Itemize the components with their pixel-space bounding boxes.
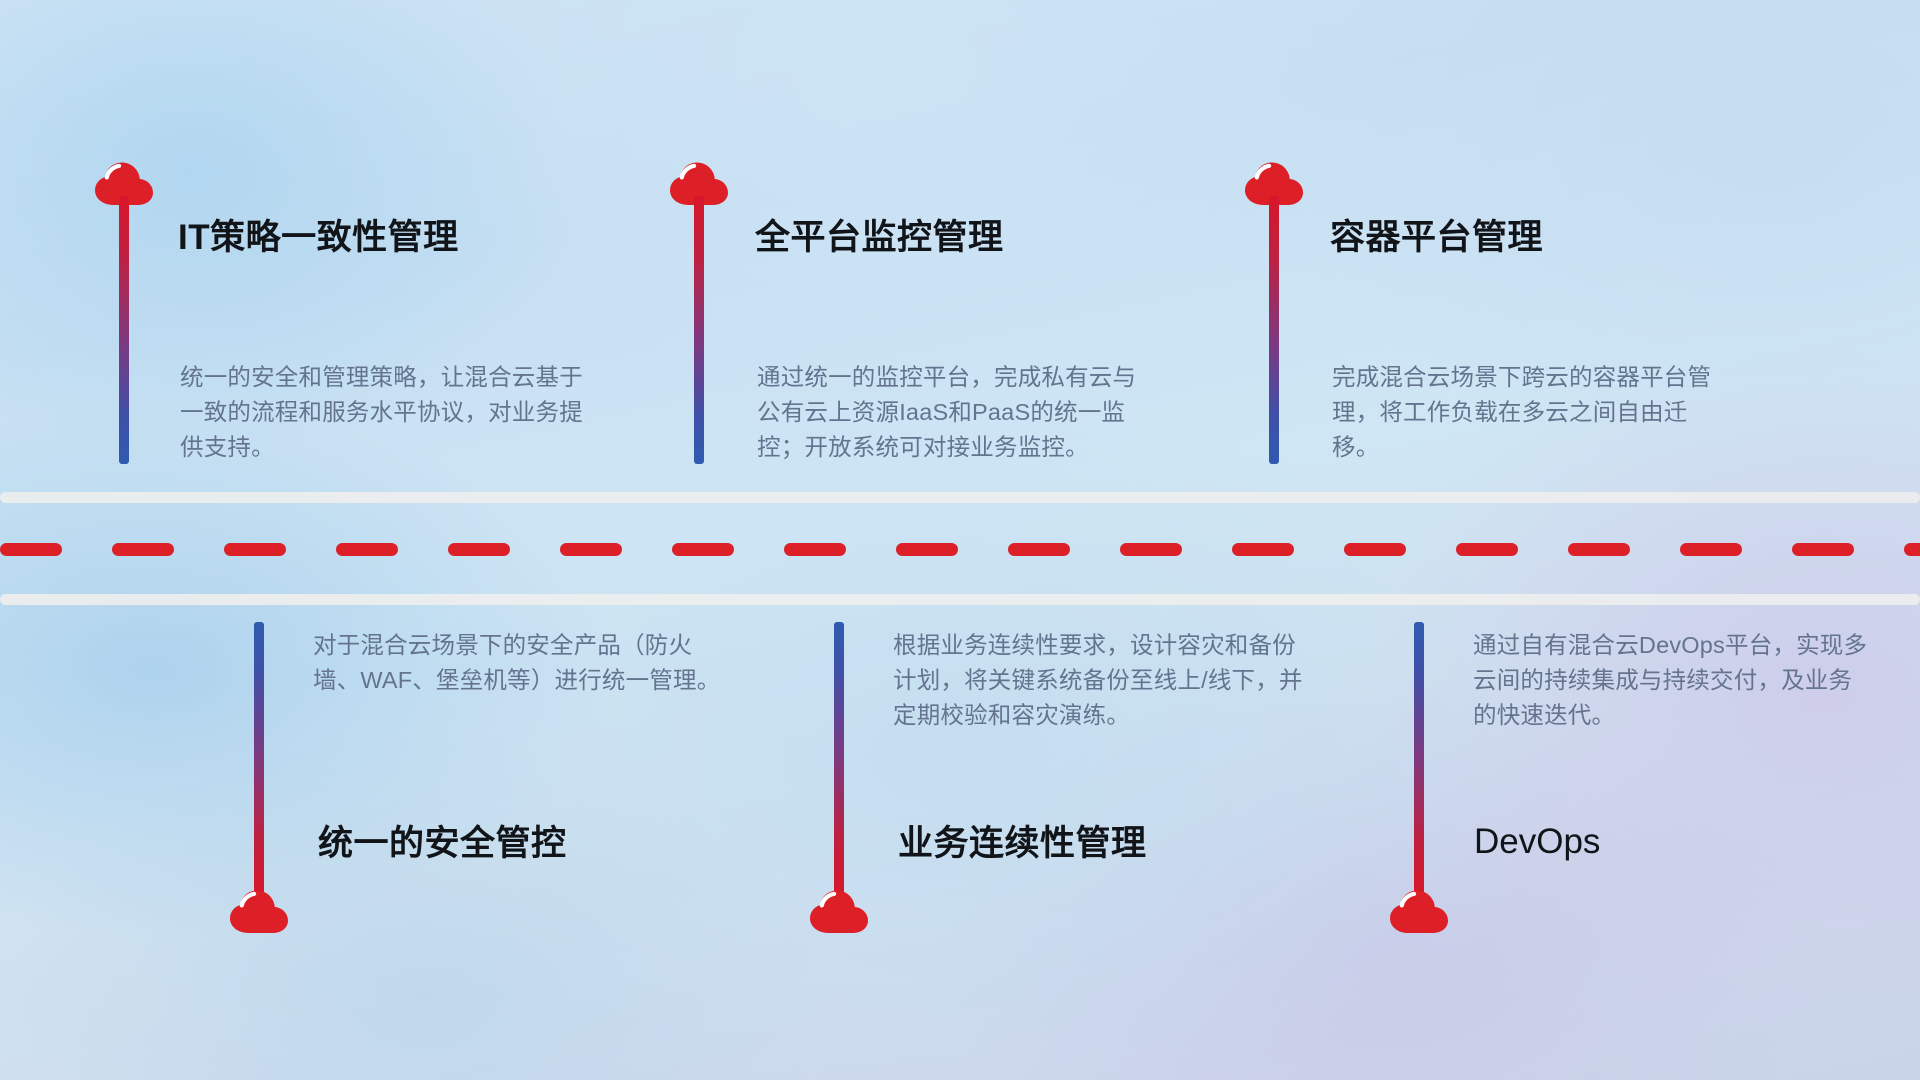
dash-segment: [1680, 543, 1742, 556]
dash-segment: [1904, 543, 1920, 556]
feature-description: 对于混合云场景下的安全产品（防火墙、WAF、堡垒机等）进行统一管理。: [313, 628, 733, 698]
cloud-icon: [1388, 888, 1450, 934]
dash-segment: [1792, 543, 1854, 556]
dash-segment: [1120, 543, 1182, 556]
dash-segment: [1568, 543, 1630, 556]
pin-stem: [254, 622, 264, 894]
dash-segment: [896, 543, 958, 556]
dash-segment: [1344, 543, 1406, 556]
feature-title: 统一的安全管控: [318, 826, 567, 861]
dash-segment: [1008, 543, 1070, 556]
pin-stem: [1269, 196, 1279, 464]
road-edge-bottom: [0, 594, 1920, 605]
feature-description: 根据业务连续性要求，设计容灾和备份计划，将关键系统备份至线上/线下，并定期校验和…: [893, 628, 1313, 733]
dash-segment: [560, 543, 622, 556]
road-center-dash: [0, 543, 1920, 556]
dash-segment: [1456, 543, 1518, 556]
feature-title: 容器平台管理: [1330, 220, 1543, 255]
dash-segment: [1232, 543, 1294, 556]
feature-description: 统一的安全和管理策略，让混合云基于一致的流程和服务水平协议，对业务提供支持。: [180, 360, 600, 465]
dash-segment: [112, 543, 174, 556]
feature-description: 完成混合云场景下跨云的容器平台管理，将工作负载在多云之间自由迁移。: [1332, 360, 1732, 465]
dash-segment: [672, 543, 734, 556]
feature-description: 通过统一的监控平台，完成私有云与公有云上资源IaaS和PaaS的统一监控；开放系…: [757, 360, 1157, 465]
dash-segment: [224, 543, 286, 556]
dash-segment: [0, 543, 62, 556]
dash-segment: [336, 543, 398, 556]
feature-title: DevOps: [1474, 824, 1600, 859]
infographic-canvas: IT策略一致性管理 统一的安全和管理策略，让混合云基于一致的流程和服务水平协议，…: [0, 0, 1920, 1080]
feature-title: IT策略一致性管理: [178, 220, 459, 255]
feature-description: 通过自有混合云DevOps平台，实现多云间的持续集成与持续交付，及业务的快速迭代…: [1473, 628, 1873, 733]
feature-title: 业务连续性管理: [898, 826, 1147, 861]
cloud-icon: [228, 888, 290, 934]
road-edge-top: [0, 492, 1920, 503]
dash-segment: [448, 543, 510, 556]
cloud-icon: [808, 888, 870, 934]
dash-segment: [784, 543, 846, 556]
pin-stem: [119, 196, 129, 464]
pin-stem: [694, 196, 704, 464]
pin-stem: [1414, 622, 1424, 894]
pin-stem: [834, 622, 844, 894]
feature-title: 全平台监控管理: [755, 220, 1004, 255]
